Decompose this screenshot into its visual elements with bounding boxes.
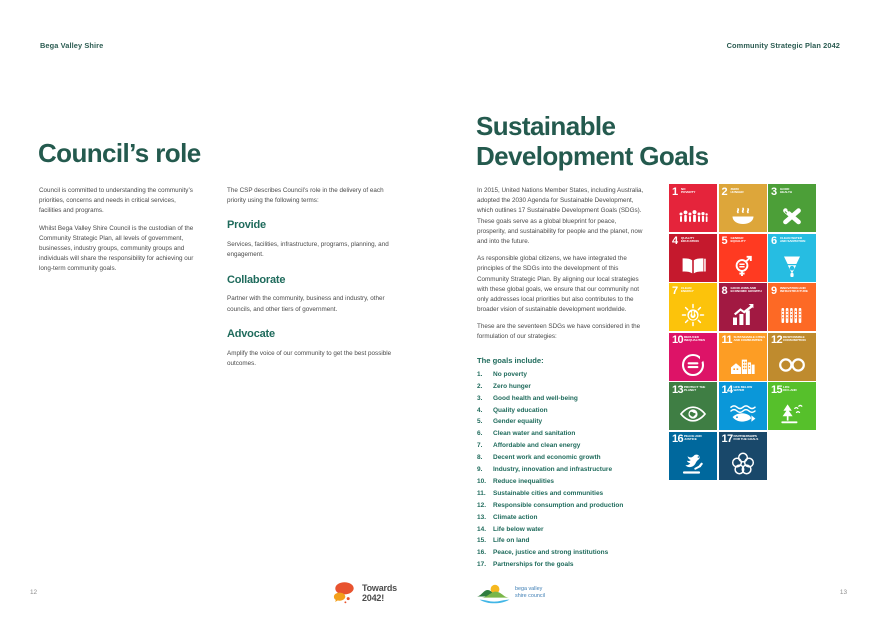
- gender-equality-icon: [719, 253, 767, 279]
- sdg-tile-2: 2ZERO HUNGER: [719, 184, 767, 232]
- speech-bubbles-icon: [332, 580, 358, 606]
- interlocking-circles-icon: [719, 451, 767, 477]
- sdg-tile-number: 16: [672, 434, 683, 445]
- sdg-tile-6: 6CLEAN WATER AND SANITATION: [768, 234, 816, 282]
- sdg-tile-number: 14: [722, 385, 733, 396]
- sdg-tile-15: 15LIFE ON LAND: [768, 382, 816, 430]
- paragraph-advocate: Amplify the voice of our community to ge…: [227, 349, 395, 369]
- sdg-tile-17: 17PARTNERSHIPS FOR THE GOALS: [719, 432, 767, 480]
- goal-list-item: Sustainable cities and communities: [477, 491, 645, 498]
- goal-list-item: Partnerships for the goals: [477, 562, 645, 569]
- paragraph-collaborate: Partner with the community, business and…: [227, 294, 395, 314]
- page-title-councils-role: Council’s role: [38, 139, 201, 169]
- sdg-tile-11: 11SUSTAINABLE CITIES AND COMMUNITIES: [719, 333, 767, 381]
- sdg-tile-number: 6: [771, 236, 777, 247]
- sdg-tile-label: PARTNERSHIPS FOR THE GOALS: [734, 435, 766, 442]
- sdg-tile-label: PEACE AND JUSTICE: [684, 435, 716, 442]
- sdg-tile-number: 1: [672, 187, 678, 198]
- sdg-tile-label: LIFE ON LAND: [783, 386, 815, 393]
- sdg-tile-13: 13PROTECT THE PLANET: [669, 382, 717, 430]
- header-right-title: Community Strategic Plan 2042: [727, 41, 840, 50]
- sdg-tile-9: 9INNOVATION AND INFRASTRUCTURE: [768, 283, 816, 331]
- goal-list-item: Clean water and sanitation: [477, 431, 645, 438]
- goal-list-item: Peace, justice and strong institutions: [477, 550, 645, 557]
- growth-chart-icon: [719, 302, 767, 328]
- sdg-tile-label: SUSTAINABLE CITIES AND COMMUNITIES: [734, 336, 766, 343]
- header-left-title: Bega Valley Shire: [40, 41, 103, 50]
- goals-list-heading: The goals include:: [477, 355, 645, 367]
- subheading-provide: Provide: [227, 217, 395, 235]
- sdg-tile-label: PROTECT THE PLANET: [684, 386, 716, 393]
- sdg-tile-label: QUALITY EDUCATION: [681, 237, 715, 244]
- goal-list-item: Gender equality: [477, 419, 645, 426]
- goal-list-item: Good health and well-being: [477, 396, 645, 403]
- towards-2042-label: Towards 2042!: [362, 583, 397, 603]
- sdg-tile-label: CLEAN ENERGY: [681, 287, 715, 294]
- sdg-tile-number: 2: [722, 187, 728, 198]
- council-emblem-icon: [476, 582, 512, 604]
- sdg-icon-grid: 1NO POVERTY2ZERO HUNGER3GOOD HEALTH4QUAL…: [669, 184, 822, 480]
- sdg-tile-number: 9: [771, 286, 777, 297]
- sdg-tile-number: 10: [672, 335, 683, 346]
- steaming-bowl-icon: [719, 203, 767, 229]
- sdg-tile-8: 8GOOD JOBS AND ECONOMIC GROWTH: [719, 283, 767, 331]
- fish-waves-icon: [719, 401, 767, 427]
- left-column-body: Council is committed to understanding th…: [39, 186, 194, 282]
- sdg-tile-label: RESPONSIBLE CONSUMPTION: [783, 336, 815, 343]
- left-column-terms: The CSP describes Council’s role in the …: [227, 186, 395, 376]
- sdg-tile-14: 14LIFE BELOW WATER: [719, 382, 767, 430]
- sdg-tile-3: 3GOOD HEALTH: [768, 184, 816, 232]
- subheading-advocate: Advocate: [227, 326, 395, 344]
- sdg-tile-4: 4QUALITY EDUCATION: [669, 234, 717, 282]
- sdg-tile-number: 8: [722, 286, 728, 297]
- sdg-tile-10: 10REDUCED INEQUALITIES: [669, 333, 717, 381]
- subheading-collaborate: Collaborate: [227, 272, 395, 290]
- sdg-tile-number: 13: [672, 385, 683, 396]
- page-title-sustainable-development-goals: Sustainable Development Goals: [476, 112, 766, 171]
- goal-list-item: Climate action: [477, 515, 645, 522]
- sdg-tile-label: CLEAN WATER AND SANITATION: [780, 237, 814, 244]
- sdg-tile-label: INNOVATION AND INFRASTRUCTURE: [780, 287, 814, 294]
- open-book-icon: [669, 253, 717, 279]
- industry-blocks-icon: [768, 302, 816, 328]
- eye-earth-icon: [669, 401, 717, 427]
- sdg-tile-number: 7: [672, 286, 678, 297]
- council-logo-label: bega valley shire council: [515, 586, 545, 599]
- paragraph: These are the seventeen SDGs we have con…: [477, 322, 645, 342]
- paragraph: As responsible global citizens, we have …: [477, 254, 645, 315]
- sdg-tile-label: GOOD HEALTH: [780, 188, 814, 195]
- heartbeat-icon: [768, 203, 816, 229]
- towards-2042-logo: Towards 2042!: [332, 580, 397, 606]
- page-number-left: 12: [30, 589, 37, 596]
- paragraph: Whilst Bega Valley Shire Council is the …: [39, 224, 194, 275]
- city-buildings-icon: [719, 352, 767, 378]
- bega-valley-shire-council-logo: bega valley shire council: [476, 582, 545, 604]
- sdg-tile-16: 16PEACE AND JUSTICE: [669, 432, 717, 480]
- paragraph-provide: Services, facilities, infrastructure, pr…: [227, 240, 395, 260]
- paragraph-intro: The CSP describes Council’s role in the …: [227, 186, 395, 206]
- sdg-tile-label: REDUCED INEQUALITIES: [684, 336, 716, 343]
- sdg-tile-label: LIFE BELOW WATER: [734, 386, 766, 393]
- sdg-tile-number: 11: [722, 335, 732, 346]
- sdg-tile-1: 1NO POVERTY: [669, 184, 717, 232]
- people-icon: [669, 203, 717, 229]
- goal-list-item: Responsible consumption and production: [477, 503, 645, 510]
- equals-arrows-icon: [669, 352, 717, 378]
- goal-list-item: Industry, innovation and infrastructure: [477, 467, 645, 474]
- document-spread: Bega Valley Shire Community Strategic Pl…: [0, 0, 878, 620]
- tree-birds-icon: [768, 401, 816, 427]
- right-column-body: In 2015, United Nations Member States, i…: [477, 186, 645, 574]
- sun-power-icon: [669, 302, 717, 328]
- sdg-tile-label: ZERO HUNGER: [731, 188, 765, 195]
- page-number-right: 13: [840, 589, 847, 596]
- infinity-icon: [768, 352, 816, 378]
- goal-list-item: Reduce inequalities: [477, 479, 645, 486]
- goal-list-item: Life on land: [477, 538, 645, 545]
- sdg-tile-7: 7CLEAN ENERGY: [669, 283, 717, 331]
- goal-list-item: Decent work and economic growth: [477, 455, 645, 462]
- goal-list-item: Quality education: [477, 408, 645, 415]
- water-drop-icon: [768, 253, 816, 279]
- sdg-tile-number: 17: [722, 434, 733, 445]
- sdg-tile-12: 12RESPONSIBLE CONSUMPTION: [768, 333, 816, 381]
- sdg-tile-number: 12: [771, 335, 782, 346]
- goal-list-item: Affordable and clean energy: [477, 443, 645, 450]
- goal-list-item: Life below water: [477, 527, 645, 534]
- sdg-tile-number: 3: [771, 187, 777, 198]
- sdg-tile-number: 5: [722, 236, 728, 247]
- sdg-tile-label: NO POVERTY: [681, 188, 715, 195]
- goal-list-item: No poverty: [477, 372, 645, 379]
- paragraph: In 2015, United Nations Member States, i…: [477, 186, 645, 247]
- sdg-tile-number: 4: [672, 236, 678, 247]
- sdg-tile-5: 5GENDER EQUALITY: [719, 234, 767, 282]
- goals-list: No povertyZero hungerGood health and wel…: [477, 372, 645, 569]
- sdg-tile-number: 15: [771, 385, 782, 396]
- sdg-tile-label: GENDER EQUALITY: [731, 237, 765, 244]
- sdg-tile-label: GOOD JOBS AND ECONOMIC GROWTH: [731, 287, 765, 294]
- goal-list-item: Zero hunger: [477, 384, 645, 391]
- paragraph: Council is committed to understanding th…: [39, 186, 194, 217]
- dove-gavel-icon: [669, 451, 717, 477]
